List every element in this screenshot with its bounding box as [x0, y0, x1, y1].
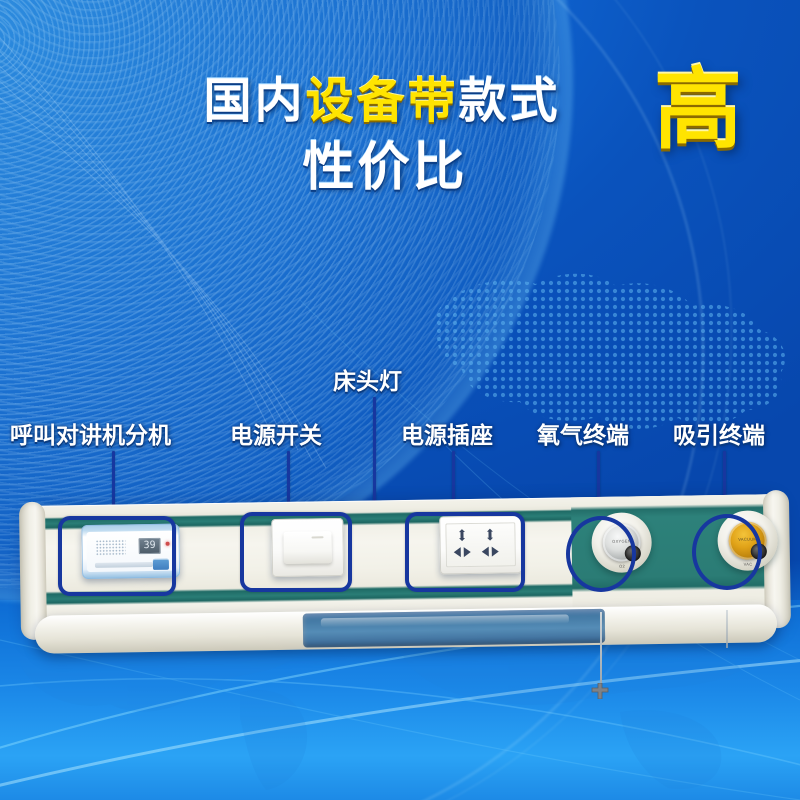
callout-label-oxygen-terminal: 氧气终端	[537, 416, 629, 450]
callout-label-intercom-extension: 呼叫对讲机分机	[10, 416, 171, 450]
oxygen-hanging-cord	[600, 612, 602, 688]
callout-label-power-socket: 电源插座	[401, 416, 493, 450]
highlight-oxygen-terminal	[566, 516, 636, 592]
rail-glass-insert	[303, 609, 605, 648]
promo-banner: 国内设备带款式 性价比 高 呼叫对讲机分机 电源开关 床头灯 电源插座 氧气终端…	[0, 0, 800, 800]
oxygen-plug-icon	[591, 683, 609, 699]
suction-hanging-cord	[726, 610, 728, 648]
callout-label-suction-terminal: 吸引终端	[673, 416, 765, 450]
callout-label-power-switch: 电源开关	[230, 416, 322, 450]
highlight-intercom-extension	[58, 516, 176, 596]
highlight-power-switch	[240, 512, 352, 592]
highlight-power-socket	[405, 512, 525, 592]
highlight-suction-terminal	[692, 514, 762, 590]
callout-label-bedside-light: 床头灯	[333, 362, 402, 396]
